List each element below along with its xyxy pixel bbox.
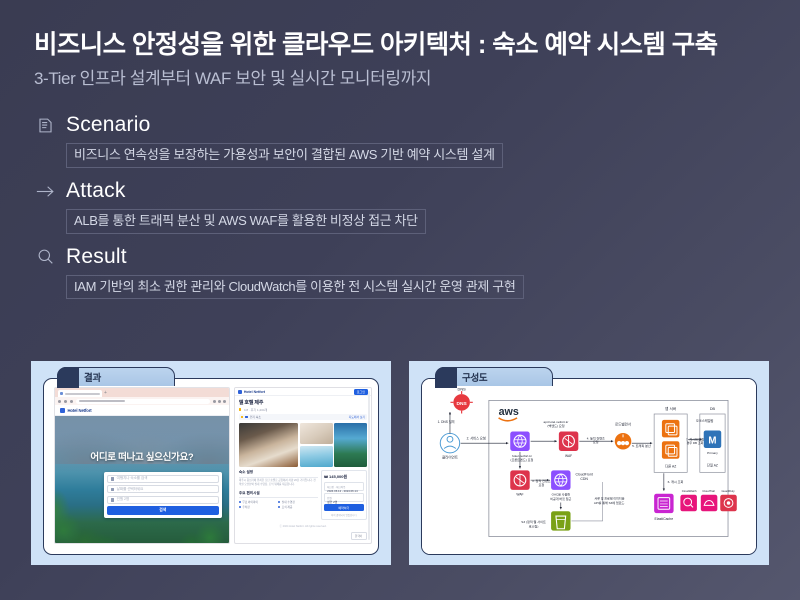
document-icon	[36, 116, 55, 135]
reserve-button[interactable]: 예약하기	[324, 504, 363, 511]
rating-row: 4.8 · 후기 1,204개	[239, 408, 367, 412]
list-item: 무료 와이파이	[239, 500, 278, 504]
forward-icon[interactable]	[64, 400, 67, 403]
hero-title: 어디로 떠나고 싶으신가요?	[55, 449, 229, 463]
api-annotation-line1: api.hotel.netfort.kr	[543, 420, 568, 424]
page-subtitle: 3-Tier 인프라 설계부터 WAF 보안 및 실시간 모니터링까지	[34, 69, 766, 89]
section-result: Result IAM 기반의 최소 권한 관리와 CloudWatch를 이용한…	[36, 243, 800, 300]
amenity-label: 조식 제공	[282, 505, 293, 509]
frontend-annotation-line1: hotel.netfort.kr	[512, 454, 532, 458]
scrollbar[interactable]	[368, 391, 370, 540]
menu-icon[interactable]	[223, 400, 226, 403]
url-text	[79, 400, 125, 402]
booking-column: ₩ 145,000원 체크인 · 체크아웃 2024.06.12 - 2024.…	[321, 470, 367, 520]
cloudwatch-icon	[680, 495, 697, 512]
client-label: 클라이언트	[442, 455, 459, 460]
alb-label: 로드밸런서	[615, 422, 631, 427]
guardduty-label: GuardDuty	[721, 489, 735, 493]
section-scenario-desc: 비즈니스 연속성을 보장하는 가용성과 보안이 결합된 AWS 기반 예약 시스…	[66, 143, 503, 168]
section-scenario-label: Scenario	[66, 113, 150, 137]
browser-screenshot: +	[54, 387, 372, 544]
gallery-column	[300, 423, 333, 467]
detail-info-column: 숙소 설명 제주시 중심가에 위치한 모던 호텔로 공항에서 차량 20분 거리…	[239, 470, 318, 520]
panel-tab-architecture[interactable]: 구성도	[435, 367, 553, 386]
aws-cloud-label: aws	[499, 406, 519, 418]
panel-row: 결과 +	[0, 361, 800, 565]
search-submit-button[interactable]: 검색	[107, 506, 219, 515]
map-link[interactable]: 지도에서 보기	[349, 415, 365, 419]
gallery-thumb-2[interactable]	[300, 446, 333, 467]
reload-icon[interactable]	[70, 400, 73, 403]
flow-label-3b: 요청	[538, 482, 544, 487]
search-card: 여행지나 숙소를 검색 날짜를 선택하세요 인원 2명	[104, 472, 222, 518]
upload-annotation-line2: API를 통해 S3에 업로드.	[594, 500, 625, 505]
elasticache-icon	[654, 494, 673, 513]
site-logo-icon	[60, 408, 65, 413]
flow-label-4b: 요청	[593, 439, 599, 444]
date-field[interactable]: 체크인 · 체크아웃 2024.06.12 - 2024.06.14	[324, 482, 363, 491]
browser-tab[interactable]	[58, 390, 102, 397]
rds-glyph: M	[708, 436, 716, 447]
gallery-thumb-3[interactable]	[334, 423, 367, 467]
favicon-icon	[60, 392, 63, 395]
back-icon[interactable]	[58, 400, 61, 403]
price-value: ₩ 145,000원	[324, 474, 363, 480]
panel-architecture-inner: aws DNS DNS 클라이언트 1. DNS 질의	[421, 378, 757, 555]
frontend-annotation-line2: (프론트엔드) 요청	[510, 457, 533, 462]
bookmark-icon[interactable]	[213, 400, 216, 403]
page-title: 비즈니스 안정성을 위한 클라우드 아키텍처 : 숙소 예약 시스템 구축	[34, 30, 766, 60]
section-result-label: Result	[66, 245, 127, 269]
panel-tab-result-label: 결과	[84, 370, 101, 384]
url-input[interactable]	[76, 399, 210, 404]
detail-logo-text: Hotel Netfort	[244, 390, 265, 394]
pin-icon	[111, 477, 115, 481]
amenity-label: 무료 와이파이	[242, 500, 258, 504]
section-attack-desc: ALB를 통한 트래픽 분산 및 AWS WAF를 활용한 비정상 접근 차단	[66, 209, 426, 234]
check-icon	[239, 506, 241, 508]
browser-tab-title	[65, 393, 100, 395]
gallery-thumb-1[interactable]	[300, 423, 333, 444]
slide-header: 비즈니스 안정성을 위한 클라우드 아키텍처 : 숙소 예약 시스템 구축 3-…	[0, 0, 800, 89]
extensions-icon[interactable]	[218, 400, 221, 403]
section-scenario: Scenario 비즈니스 연속성을 보장하는 가용성과 보안이 결합된 AWS…	[36, 111, 800, 168]
cloudtrail-label: CloudTrail	[702, 489, 715, 493]
amenity-label: 실내 수영장	[282, 500, 295, 504]
site-logo-text: Hotel Netfort	[68, 408, 92, 413]
flow-label-6: 6. 캐시 조회	[668, 479, 684, 484]
panel-tab-result[interactable]: 결과	[57, 367, 175, 386]
panel-result-inner: +	[43, 378, 379, 555]
amenity-label: 주차장	[242, 505, 249, 509]
check-icon	[278, 501, 280, 503]
cloudwatch-label: CloudWatch	[682, 489, 697, 493]
rating-text: 4.8 · 후기 1,204개	[244, 408, 267, 412]
new-tab-icon[interactable]: +	[104, 390, 107, 397]
s3-label-line2: 호스팅)	[529, 523, 539, 528]
cloudfront-cdn-icon	[551, 470, 570, 489]
waf-static-label: WAF	[516, 493, 523, 497]
flow-label-7b: 경우 DB 조회	[687, 440, 704, 445]
flow-label-5: 5. 트래픽 분산	[632, 443, 651, 448]
login-button[interactable]: 로그인	[354, 389, 368, 395]
browser-window-detail: Hotel Netfort 로그인 델 호텔 제주 4.8 · 후기 1,204…	[234, 387, 372, 544]
s3-label-line1: S3 (정적 웹 사이트	[521, 519, 546, 524]
urlbar-actions	[213, 400, 226, 403]
search-icon	[36, 247, 55, 266]
site-header: Hotel Netfort	[55, 405, 229, 416]
badge-bar: 인기 숙소 지도에서 보기	[239, 414, 367, 420]
oac-annotation-line2: 비공개 버킷 접근	[550, 496, 571, 501]
list-item: 주차장	[239, 505, 278, 509]
badge-pin-icon	[245, 416, 248, 419]
diagram-svg: aws DNS DNS 클라이언트 1. DNS 질의	[422, 379, 756, 554]
oac-annotation-line1: OAC를 사용한	[552, 492, 571, 497]
browser-tabbar: +	[55, 388, 229, 397]
db-az-label: 단일 AZ	[707, 463, 718, 468]
amenities-heading: 주요 편의시설	[239, 491, 318, 496]
detail-header: Hotel Netfort 로그인	[235, 388, 371, 396]
hotel-name: 델 호텔 제주	[239, 399, 367, 406]
hotel-description: 제주시 중심가에 위치한 모던 호텔로 공항에서 차량 20분 거리입니다. 전…	[239, 479, 318, 488]
client-head-icon	[447, 436, 453, 442]
browser-urlbar	[55, 397, 229, 405]
section-result-desc: IAM 기반의 최소 권한 관리와 CloudWatch를 이용한 전 시스템 …	[66, 275, 524, 300]
detail-body: 델 호텔 제주 4.8 · 후기 1,204개 인기 숙소 지도에서 보기	[235, 396, 371, 531]
slide-root: 비즈니스 안정성을 위한 클라우드 아키텍처 : 숙소 예약 시스템 구축 3-…	[0, 0, 800, 600]
aws-smile-icon	[499, 418, 517, 421]
language-select[interactable]: 한국어	[351, 532, 367, 540]
date-field-value: 2024.06.12 - 2024.06.14	[327, 489, 360, 493]
star-icon	[239, 408, 242, 411]
detail-logo-icon	[238, 390, 242, 394]
search-guest-placeholder: 인원 2명	[117, 497, 129, 502]
browser-window-home: +	[54, 387, 230, 544]
panel-architecture: 구성도 aws DNS	[409, 361, 769, 565]
cdn-label: CDN	[580, 477, 588, 481]
status-badge: 인기 숙소	[250, 415, 261, 419]
guest-field-value: 성인 2명	[327, 500, 360, 504]
panel-result: 결과 +	[31, 361, 391, 565]
gallery-main-image[interactable]	[239, 423, 298, 467]
aws-architecture-diagram: aws DNS DNS 클라이언트 1. DNS 질의	[422, 379, 756, 554]
check-icon	[239, 501, 241, 503]
client-body-icon	[444, 446, 456, 448]
waf-api-label: WAF	[565, 454, 572, 458]
search-date-input[interactable]: 날짜를 선택하세요	[107, 485, 219, 493]
info-heading: 숙소 설명	[239, 470, 318, 475]
list-item: 조식 제공	[278, 505, 317, 509]
panel-tab-architecture-label: 구성도	[462, 370, 487, 384]
route53-glyph: DNS	[457, 401, 468, 407]
autoscaling-label: 오토스케일링	[696, 418, 714, 423]
search-destination-input[interactable]: 여행지나 숙소를 검색	[107, 475, 219, 483]
cloudfront-main-icon	[510, 432, 529, 451]
db-primary-label: Primary	[707, 451, 718, 455]
list-item: 실내 수영장	[278, 500, 317, 504]
section-attack: Attack ALB를 통한 트래픽 분산 및 AWS WAF를 활용한 비정상…	[36, 177, 800, 234]
person-icon	[111, 498, 115, 502]
check-icon	[278, 506, 280, 508]
gallery-column-2	[334, 423, 367, 467]
divider-2	[239, 497, 318, 498]
section-result-head: Result	[36, 243, 800, 271]
api-annotation-line2: (백엔드) 요청	[547, 423, 564, 428]
section-scenario-head: Scenario	[36, 111, 800, 139]
detail-columns: 숙소 설명 제주시 중심가에 위치한 모던 호텔로 공항에서 차량 20분 거리…	[239, 470, 367, 520]
dns-label: DNS	[458, 387, 467, 392]
s3-icon	[551, 511, 570, 530]
section-list: Scenario 비즈니스 연속성을 보장하는 가용성과 보안이 결합된 AWS…	[0, 111, 800, 299]
cloudtrail-icon	[701, 495, 718, 512]
divider	[239, 477, 318, 478]
flow-label-2: 2. 서비스 요청	[467, 435, 486, 440]
amenities-list: 무료 와이파이 실내 수영장 주차장 조식 제공	[239, 500, 318, 510]
section-attack-head: Attack	[36, 177, 800, 205]
arrow-right-icon	[36, 182, 55, 201]
section-attack-label: Attack	[66, 179, 126, 203]
site-footer: ⓒ 2024 Hotel Netfort. All rights reserve…	[239, 524, 367, 528]
app-server-label: 앱 서버	[665, 406, 676, 411]
guest-field[interactable]: 인원 성인 2명	[324, 493, 363, 502]
search-date-placeholder: 날짜를 선택하세요	[117, 487, 144, 492]
image-gallery	[239, 423, 367, 467]
price-card: ₩ 145,000원 체크인 · 체크아웃 2024.06.12 - 2024.…	[321, 470, 367, 520]
cloudfront-label: CloudFront	[576, 472, 593, 476]
elasticache-label: ElastiCache	[655, 517, 674, 521]
db-label: DB	[710, 407, 716, 411]
search-guest-input[interactable]: 인원 2명	[107, 496, 219, 504]
flow-label-1: 1. DNS 질의	[438, 419, 455, 424]
reserve-note: 아직 결제되지 않았습니다	[324, 513, 363, 517]
aws-cloud-boundary	[489, 400, 728, 536]
calendar-icon	[111, 488, 115, 492]
upload-annotation-line1: 서류 및 프로필 이미지를	[594, 496, 624, 501]
search-destination-placeholder: 여행지나 숙소를 검색	[117, 476, 148, 481]
badge-star-icon	[241, 416, 244, 419]
app-az-label: 다른 AZ	[665, 463, 676, 468]
hero-banner: 어디로 떠나고 싶으신가요? 여행지나 숙소를 검색 날짜를 선택하세요	[55, 416, 229, 543]
